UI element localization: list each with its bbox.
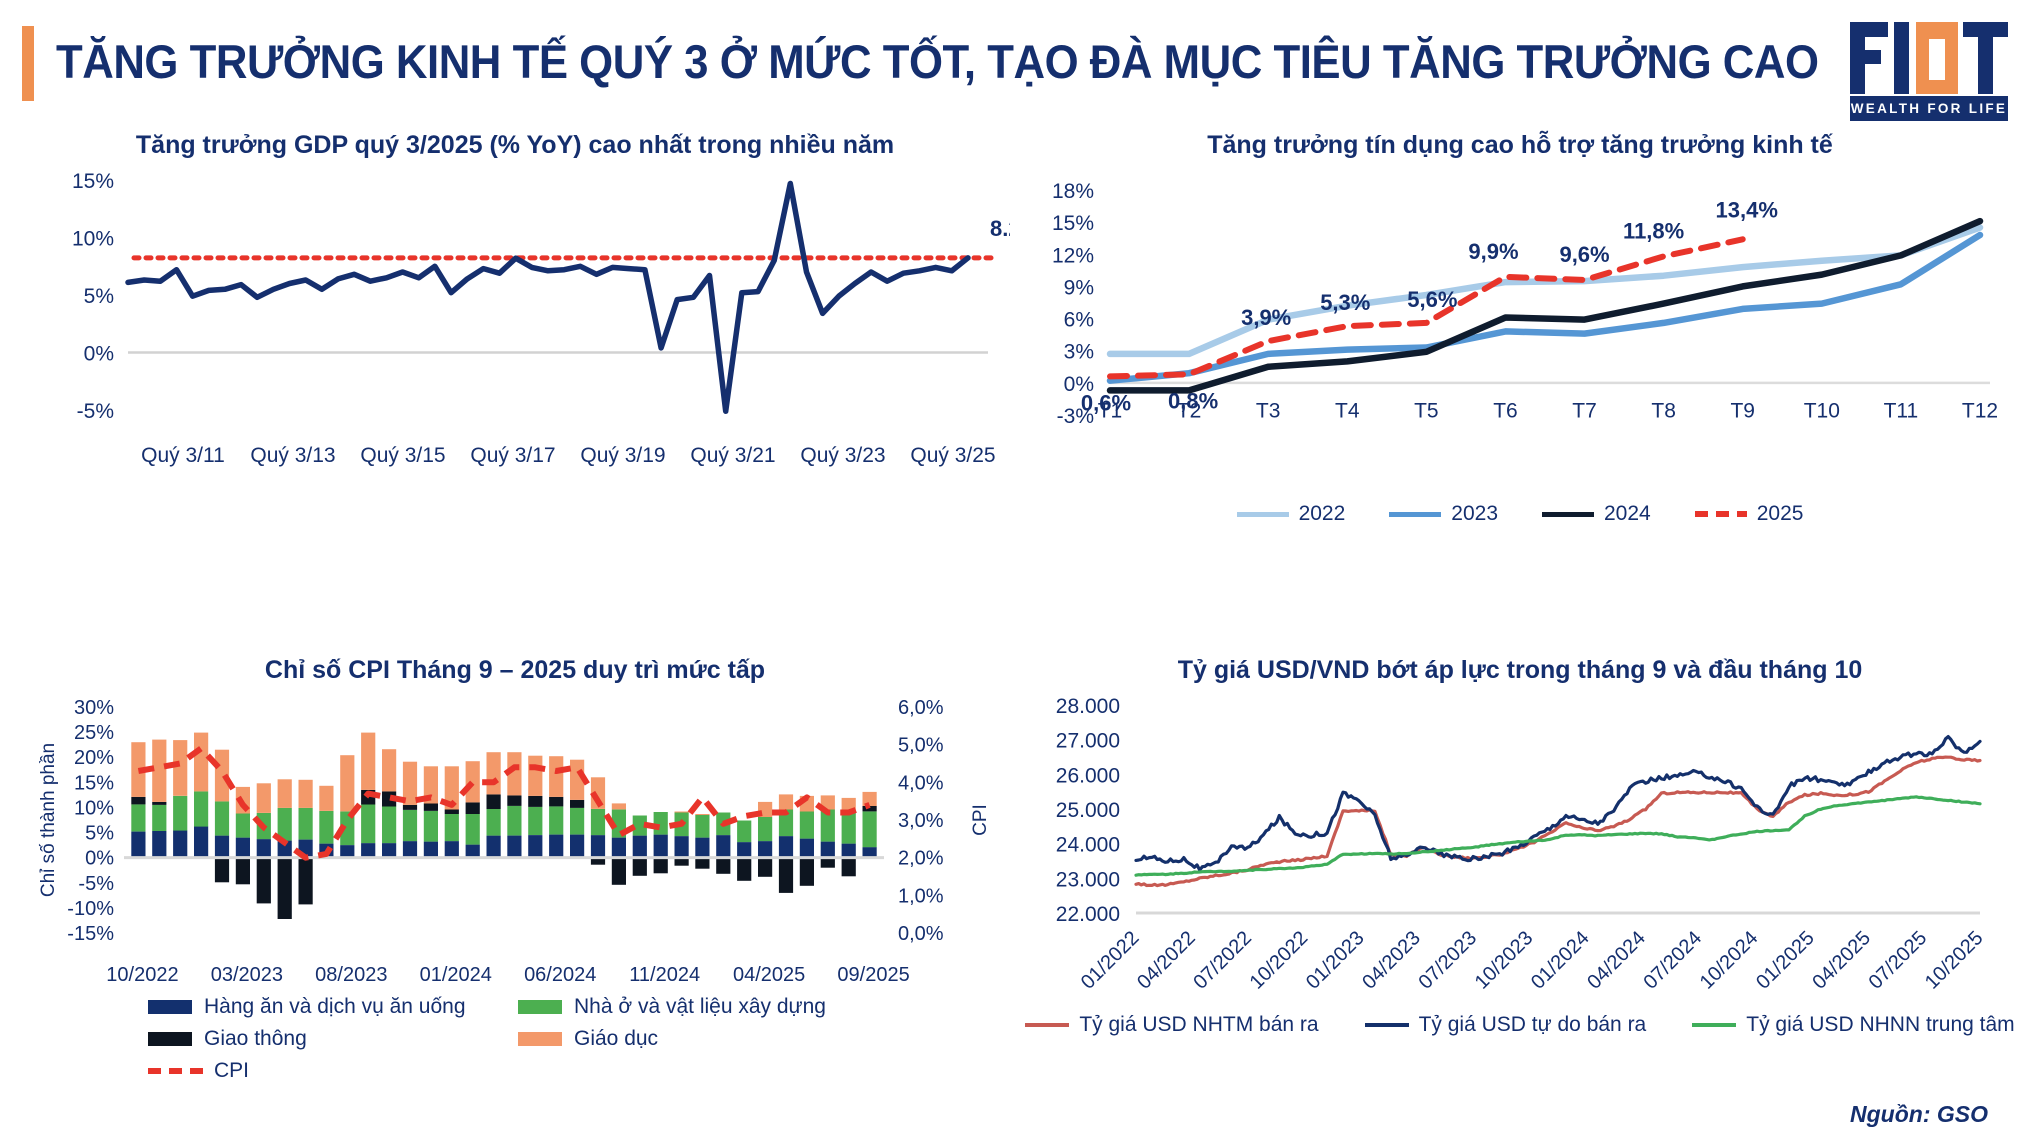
chart-canvas-credit: -3%0%3%6%9%12%15%18%T1T2T3T4T5T6T7T8T9T1…	[1020, 160, 2020, 500]
cpi-bar-segment	[466, 802, 480, 814]
x-axis-tick-label: 04/2023	[1358, 927, 1425, 994]
logo-tagline: WEALTH FOR LIFE	[1850, 96, 2008, 121]
legend-row: Hàng ăn và dịch vụ ăn uốngNhà ở và vật l…	[148, 995, 1010, 1019]
axis-tick-label: 2,0%	[898, 848, 944, 870]
axis-tick-label: T10	[1804, 400, 1840, 423]
fidt-logo: WEALTH FOR LIFE	[1850, 22, 2008, 122]
cpi-bar-segment	[800, 812, 814, 839]
credit-data-label: 5,3%	[1320, 290, 1370, 315]
axis-tick-label: Quý 3/17	[470, 444, 555, 467]
axis-tick-label: 10%	[72, 228, 114, 251]
axis-tick-label: 0,0%	[898, 923, 944, 945]
credit-data-label: 3,9%	[1241, 305, 1291, 330]
axis-tick-label: Quý 3/13	[250, 444, 335, 467]
cpi-bar-segment	[633, 858, 647, 876]
axis-tick-label: 3%	[1064, 341, 1094, 364]
cpi-bar-segment	[487, 794, 501, 809]
cpi-bar-segment	[612, 803, 626, 809]
credit-data-label: 5,6%	[1407, 287, 1457, 312]
axis-tick-label: 23.000	[1056, 868, 1120, 891]
cpi-bar-segment	[361, 843, 375, 858]
cpi-bar-segment	[173, 740, 187, 796]
axis-tick-label: 0%	[85, 848, 114, 870]
legend-swatch	[518, 1000, 562, 1014]
legend-item-Nhà ở và vật liệu xây dựng: Nhà ở và vật liệu xây dựng	[518, 995, 826, 1019]
cpi-bar-segment	[299, 780, 313, 808]
cpi-bar-segment	[173, 831, 187, 858]
cpi-bar-segment	[424, 842, 438, 858]
cpi-bar-segment	[487, 836, 501, 858]
chart-panel-fx: Tỷ giá USD/VND bớt áp lực trong tháng 9 …	[1020, 650, 2020, 1142]
cpi-bar-segment	[758, 817, 772, 841]
cpi-bar-segment	[570, 835, 584, 858]
axis-tick-label: 30%	[74, 697, 114, 719]
legend-swatch	[148, 1068, 204, 1074]
gdp-value-annotation: 8.23%	[990, 216, 1010, 241]
x-axis-tick-label: 10/2022	[1246, 927, 1313, 994]
legend-swatch	[1025, 1023, 1069, 1027]
y-axis-title-right: CPI	[970, 804, 991, 836]
axis-tick-label: Quý 3/15	[360, 444, 445, 467]
axis-tick-label: 24.000	[1056, 834, 1120, 857]
cpi-bar-segment	[215, 858, 229, 883]
axis-tick-label: -5%	[78, 873, 114, 895]
cpi-bar-segment	[737, 821, 751, 843]
cpi-bar-segment	[779, 794, 793, 809]
legend-label: Tỷ giá USD tự do bán ra	[1419, 1013, 1647, 1037]
axis-tick-label: 15%	[74, 772, 114, 794]
axis-tick-label: 04/2025	[733, 964, 805, 985]
cpi-bar-segment	[424, 811, 438, 842]
cpi-bar-segment	[361, 733, 375, 790]
legend-item-2023: 2023	[1389, 502, 1498, 526]
cpi-bar-segment	[382, 749, 396, 791]
cpi-bar-segment	[612, 858, 626, 885]
chart-title-gdp: Tăng trưởng GDP quý 3/2025 (% YoY) cao n…	[20, 125, 1010, 160]
cpi-bar-segment	[695, 814, 709, 815]
cpi-bar-segment	[528, 807, 542, 835]
axis-tick-label: T12	[1962, 400, 1998, 423]
chart-title-cpi: Chỉ số CPI Tháng 9 – 2025 duy trì mức tấ…	[20, 650, 1010, 685]
x-axis-tick-label: 01/2023	[1302, 927, 1369, 994]
axis-tick-label: 4,0%	[898, 772, 944, 794]
cpi-bar-segment	[695, 858, 709, 869]
cpi-bar-segment	[299, 858, 313, 905]
cpi-bar-segment	[236, 814, 250, 838]
chart-legend-credit: 2022202320242025	[1020, 502, 2020, 526]
legend-label: Giao thông	[204, 1027, 307, 1051]
x-axis-tick-label: 04/2022	[1133, 927, 1200, 994]
cpi-bar-segment	[549, 835, 563, 858]
legend-swatch	[148, 1032, 192, 1046]
axis-tick-label: T5	[1414, 400, 1439, 423]
axis-tick-label: 12%	[1052, 244, 1094, 267]
cpi-bar-segment	[194, 733, 208, 792]
cpi-bar-segment	[821, 858, 835, 868]
legend-swatch	[1692, 1023, 1736, 1027]
cpi-bar-segment	[152, 802, 166, 805]
cpi-bar-segment	[800, 858, 814, 886]
cpi-bar-segment	[403, 810, 417, 841]
legend-label: Tỷ giá USD NHTM bán ra	[1079, 1013, 1318, 1037]
axis-tick-label: T9	[1730, 400, 1755, 423]
cpi-bar-segment	[842, 858, 856, 877]
cpi-bar-segment	[194, 827, 208, 858]
legend-swatch	[518, 1032, 562, 1046]
axis-tick-label: -10%	[67, 898, 114, 920]
axis-tick-label: T11	[1884, 400, 1919, 423]
axis-tick-label: 10/2022	[106, 964, 178, 985]
chart-panel-cpi: Chỉ số CPI Tháng 9 – 2025 duy trì mức tấ…	[20, 650, 1010, 1142]
cpi-bar-segment	[319, 811, 333, 844]
legend-item-CPI: CPI	[148, 1059, 518, 1083]
chart-title-fx: Tỷ giá USD/VND bớt áp lực trong tháng 9 …	[1020, 650, 2020, 685]
cpi-bar-segment	[549, 806, 563, 834]
cpi-bar-segment	[758, 858, 772, 877]
cpi-bar-segment	[695, 838, 709, 858]
cpi-bar-segment	[654, 835, 668, 858]
axis-tick-label: 3,0%	[898, 810, 944, 832]
cpi-bar-segment	[528, 835, 542, 858]
legend-swatch	[1237, 512, 1289, 517]
legend-label: 2025	[1757, 502, 1804, 526]
cpi-bar-segment	[675, 812, 689, 813]
legend-item-Tỷ giá USD tự do bán ra: Tỷ giá USD tự do bán ra	[1365, 1013, 1647, 1037]
chart-panel-credit: Tăng trưởng tín dụng cao hỗ trợ tăng trư…	[1020, 125, 2020, 605]
axis-tick-label: 1,0%	[898, 885, 944, 907]
axis-tick-label: 5%	[85, 823, 114, 845]
cpi-bar-segment	[487, 752, 501, 794]
cpi-bar-segment	[570, 808, 584, 835]
legend-label: 2024	[1604, 502, 1651, 526]
cpi-bar-segment	[633, 836, 647, 858]
axis-tick-label: 5,0%	[898, 735, 944, 757]
cpi-bar-segment	[591, 835, 605, 858]
chart-title-credit: Tăng trưởng tín dụng cao hỗ trợ tăng trư…	[1020, 125, 2020, 160]
axis-tick-label: 06/2024	[524, 964, 596, 985]
title-accent-bar	[22, 26, 34, 101]
credit-data-label: 9,9%	[1468, 239, 1518, 264]
cpi-bar-segment	[173, 796, 187, 831]
legend-label: 2023	[1451, 502, 1498, 526]
axis-tick-label: Quý 3/21	[690, 444, 775, 467]
cpi-bar-segment	[528, 796, 542, 807]
cpi-bar-segment	[319, 786, 333, 811]
cpi-bar-segment	[445, 841, 459, 858]
cpi-bar-segment	[131, 832, 145, 858]
cpi-bar-segment	[236, 858, 250, 885]
credit-data-label: 11,8%	[1623, 218, 1684, 243]
x-axis-tick-label: 10/2024	[1696, 927, 1763, 994]
axis-tick-label: Quý 3/25	[910, 444, 995, 467]
legend-item-Giao thông: Giao thông	[148, 1027, 518, 1051]
axis-tick-label: 6%	[1064, 309, 1094, 332]
legend-item-Tỷ giá USD NHTM bán ra: Tỷ giá USD NHTM bán ra	[1025, 1013, 1318, 1037]
cpi-bar-segment	[424, 803, 438, 811]
axis-tick-label: 0%	[84, 343, 114, 366]
cpi-bar-segment	[612, 838, 626, 858]
legend-swatch	[1542, 512, 1594, 517]
cpi-bar-segment	[863, 847, 877, 858]
axis-tick-label: 01/2024	[420, 964, 492, 985]
cpi-bar-segment	[821, 842, 835, 858]
legend-label: Nhà ở và vật liệu xây dựng	[574, 995, 826, 1019]
x-axis-tick-label: 10/2025	[1921, 927, 1988, 994]
cpi-bar-segment	[487, 809, 501, 836]
credit-data-label: 0,8%	[1168, 388, 1218, 413]
x-axis-tick-label: 01/2025	[1752, 927, 1819, 994]
x-axis-tick-label: 01/2022	[1077, 927, 1144, 994]
cpi-bar-segment	[507, 806, 521, 836]
legend-item-Tỷ giá USD NHNN trung tâm: Tỷ giá USD NHNN trung tâm	[1692, 1013, 2014, 1037]
axis-tick-label: 15%	[1052, 212, 1094, 235]
legend-swatch	[1695, 511, 1747, 517]
cpi-bar-segment	[340, 755, 354, 811]
axis-tick-label: Quý 3/19	[580, 444, 665, 467]
legend-item-2022: 2022	[1237, 502, 1346, 526]
legend-item-Giáo dục: Giáo dục	[518, 1027, 658, 1051]
axis-tick-label: 22.000	[1056, 903, 1120, 926]
axis-tick-label: 09/2025	[837, 964, 909, 985]
axis-tick-label: T8	[1651, 400, 1676, 423]
legend-label: CPI	[214, 1059, 249, 1083]
axis-tick-label: Quý 3/11	[141, 444, 225, 467]
x-axis-tick-label: 07/2025	[1865, 927, 1932, 994]
cpi-bar-segment	[528, 756, 542, 796]
cpi-bar-segment	[215, 801, 229, 835]
legend-swatch	[148, 1000, 192, 1014]
credit-data-label: 13,4%	[1716, 197, 1778, 222]
legend-label: Tỷ giá USD NHNN trung tâm	[1746, 1013, 2014, 1037]
cpi-bar-segment	[236, 838, 250, 858]
chart-canvas-cpi: -15%-10%-5%0%5%10%15%20%25%30%0,0%1,0%2,…	[20, 685, 1010, 985]
cpi-bar-segment	[591, 809, 605, 835]
axis-tick-label: 28.000	[1056, 695, 1120, 718]
cpi-bar-segment	[257, 858, 271, 904]
cpi-bar-segment	[278, 858, 292, 919]
cpi-bar-segment	[507, 836, 521, 858]
x-axis-tick-label: 01/2024	[1527, 927, 1594, 994]
legend-label: Giáo dục	[574, 1027, 658, 1051]
legend-row: Giao thôngGiáo dục	[148, 1027, 1010, 1051]
cpi-bar-segment	[340, 845, 354, 858]
axis-tick-label: 27.000	[1056, 730, 1120, 753]
cpi-bar-segment	[716, 835, 730, 858]
logo-wordmark	[1850, 22, 2008, 94]
legend-item-2025: 2025	[1695, 502, 1804, 526]
chart-panel-gdp: Tăng trưởng GDP quý 3/2025 (% YoY) cao n…	[20, 125, 1010, 525]
legend-swatch	[1389, 512, 1441, 517]
cpi-bar-segment	[654, 858, 668, 874]
cpi-bar-segment	[800, 839, 814, 858]
cpi-bar-segment	[716, 858, 730, 874]
legend-swatch	[1365, 1023, 1409, 1027]
legend-item-2024: 2024	[1542, 502, 1651, 526]
credit-data-label: 0,6%	[1081, 390, 1131, 415]
cpi-bar-segment	[403, 841, 417, 858]
cpi-bar-segment	[507, 795, 521, 806]
axis-tick-label: T6	[1493, 400, 1518, 423]
cpi-bar-segment	[466, 761, 480, 802]
x-axis-tick-label: 07/2024	[1640, 927, 1707, 994]
y-axis-title-left: Chỉ số thành phần	[38, 743, 59, 897]
cpi-bar-segment	[695, 815, 709, 838]
axis-tick-label: 15%	[72, 170, 114, 193]
x-axis-tick-label: 07/2023	[1414, 927, 1481, 994]
axis-tick-label: 18%	[1052, 180, 1094, 203]
axis-tick-label: T3	[1256, 400, 1281, 423]
axis-tick-label: -5%	[77, 400, 114, 423]
chart-legend-fx: Tỷ giá USD NHTM bán raTỷ giá USD tự do b…	[1020, 1013, 2020, 1037]
legend-item-Hàng ăn và dịch vụ ăn uống: Hàng ăn và dịch vụ ăn uống	[148, 995, 518, 1019]
axis-tick-label: 26.000	[1056, 764, 1120, 787]
cpi-bar-segment	[842, 811, 856, 844]
cpi-bar-segment	[737, 842, 751, 858]
cpi-bar-segment	[779, 858, 793, 893]
cpi-bar-segment	[842, 844, 856, 858]
chart-canvas-fx: 22.00023.00024.00025.00026.00027.00028.0…	[1020, 685, 2020, 1015]
cpi-bar-segment	[299, 808, 313, 840]
cpi-bar-segment	[131, 797, 145, 805]
axis-tick-label: 08/2023	[315, 964, 387, 985]
cpi-bar-segment	[131, 804, 145, 831]
axis-tick-label: 11/2024	[629, 964, 700, 985]
cpi-bar-segment	[549, 797, 563, 807]
axis-tick-label: Quý 3/23	[800, 444, 885, 467]
cpi-bar-segment	[403, 805, 417, 810]
x-axis-tick-label: 10/2023	[1471, 927, 1538, 994]
legend-label: Hàng ăn và dịch vụ ăn uống	[204, 995, 466, 1019]
cpi-bar-segment	[445, 810, 459, 815]
legend-label: 2022	[1299, 502, 1346, 526]
cpi-bar-segment	[382, 806, 396, 843]
axis-tick-label: 10%	[74, 797, 114, 819]
axis-tick-label: 03/2023	[211, 964, 283, 985]
cpi-bar-segment	[549, 756, 563, 797]
chart-canvas-gdp: -5%0%5%10%15%8.23%Quý 3/11Quý 3/13Quý 3/…	[20, 160, 1010, 510]
cpi-bar-segment	[215, 836, 229, 858]
cpi-bar-segment	[152, 805, 166, 831]
axis-tick-label: 25.000	[1056, 799, 1120, 822]
chart-legend-cpi: Hàng ăn và dịch vụ ăn uốngNhà ở và vật l…	[148, 995, 1010, 1083]
cpi-bar-segment	[152, 831, 166, 858]
cpi-bar-segment	[570, 800, 584, 808]
legend-row: CPI	[148, 1059, 1010, 1083]
page-title: TĂNG TRƯỞNG KINH TẾ QUÝ 3 Ở MỨC TỐT, TẠO…	[56, 34, 1819, 89]
axis-tick-label: T4	[1335, 400, 1360, 423]
cpi-bar-segment	[675, 836, 689, 858]
gdp-line	[128, 184, 968, 412]
cpi-bar-segment	[466, 814, 480, 845]
cpi-bar-segment	[466, 845, 480, 858]
source-note: Nguồn: GSO	[1850, 1101, 1988, 1128]
cpi-bar-segment	[779, 836, 793, 858]
axis-tick-label: 9%	[1064, 276, 1094, 299]
x-axis-tick-label: 07/2022	[1189, 927, 1256, 994]
axis-tick-label: 20%	[74, 747, 114, 769]
cpi-bar-segment	[361, 804, 375, 843]
cpi-bar-segment	[445, 814, 459, 841]
cpi-bar-segment	[737, 858, 751, 881]
cpi-bar-segment	[863, 812, 877, 848]
cpi-bar-segment	[257, 839, 271, 858]
cpi-bar-segment	[194, 791, 208, 826]
cpi-bar-segment	[382, 843, 396, 858]
cpi-bar-segment	[257, 783, 271, 813]
cpi-bar-segment	[758, 841, 772, 858]
axis-tick-label: 6,0%	[898, 697, 944, 719]
credit-data-label: 9,6%	[1559, 242, 1609, 267]
axis-tick-label: -15%	[67, 923, 114, 945]
cpi-bar-segment	[278, 779, 292, 808]
x-axis-tick-label: 04/2025	[1808, 927, 1875, 994]
axis-tick-label: T7	[1572, 400, 1597, 423]
axis-tick-label: 25%	[74, 722, 114, 744]
x-axis-tick-label: 04/2024	[1583, 927, 1650, 994]
cpi-bar-segment	[654, 812, 668, 835]
page-header: TĂNG TRƯỞNG KINH TẾ QUÝ 3 Ở MỨC TỐT, TẠO…	[0, 0, 2030, 125]
axis-tick-label: 5%	[84, 285, 114, 308]
